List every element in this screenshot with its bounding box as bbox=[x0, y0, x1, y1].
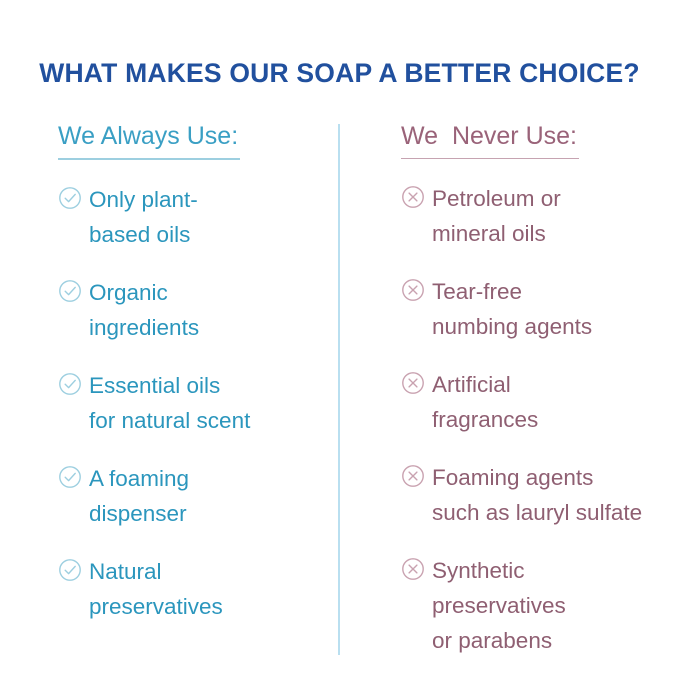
check-circle-icon bbox=[58, 558, 82, 582]
column-always-use: We Always Use: Only plant- based oils bbox=[0, 120, 338, 624]
list-item: Petroleum or mineral oils bbox=[401, 181, 671, 251]
list-item-label: Tear-free numbing agents bbox=[432, 274, 592, 344]
x-circle-icon bbox=[401, 371, 425, 395]
list-item: Artificial fragrances bbox=[401, 367, 671, 437]
list-item: Natural preservatives bbox=[58, 554, 326, 624]
list-item-label: Artificial fragrances bbox=[432, 367, 538, 437]
list-item: Tear-free numbing agents bbox=[401, 274, 671, 344]
check-circle-icon bbox=[58, 465, 82, 489]
list-item: Synthetic preservatives or parabens bbox=[401, 553, 671, 658]
x-circle-icon bbox=[401, 557, 425, 581]
list-item: A foaming dispenser bbox=[58, 461, 326, 531]
column-never-use: We Never Use: Petroleum or mineral oils bbox=[338, 120, 679, 658]
list-item-label: Organic ingredients bbox=[89, 275, 199, 345]
never-use-list: Petroleum or mineral oils Tear-free numb… bbox=[401, 181, 671, 658]
list-item-label: Essential oils for natural scent bbox=[89, 368, 250, 438]
list-item-label: Petroleum or mineral oils bbox=[432, 181, 561, 251]
x-circle-icon bbox=[401, 464, 425, 488]
list-item: Foaming agents such as lauryl sulfate bbox=[401, 460, 671, 530]
list-item-label: Foaming agents such as lauryl sulfate bbox=[432, 460, 642, 530]
check-circle-icon bbox=[58, 279, 82, 303]
comparison-columns: We Always Use: Only plant- based oils bbox=[0, 120, 679, 658]
check-circle-icon bbox=[58, 372, 82, 396]
list-item: Organic ingredients bbox=[58, 275, 326, 345]
x-circle-icon bbox=[401, 278, 425, 302]
page-title: WHAT MAKES OUR SOAP A BETTER CHOICE? bbox=[0, 56, 679, 90]
always-use-list: Only plant- based oils Organic ingredien… bbox=[58, 182, 326, 624]
check-circle-icon bbox=[58, 186, 82, 210]
comparison-poster: WHAT MAKES OUR SOAP A BETTER CHOICE? We … bbox=[0, 0, 679, 679]
list-item-label: A foaming dispenser bbox=[89, 461, 189, 531]
list-item: Only plant- based oils bbox=[58, 182, 326, 252]
x-circle-icon bbox=[401, 185, 425, 209]
list-item-label: Natural preservatives bbox=[89, 554, 223, 624]
list-item-label: Synthetic preservatives or parabens bbox=[432, 553, 566, 658]
column-heading-never-use: We Never Use: bbox=[401, 120, 579, 159]
list-item: Essential oils for natural scent bbox=[58, 368, 326, 438]
list-item-label: Only plant- based oils bbox=[89, 182, 198, 252]
column-heading-always-use: We Always Use: bbox=[58, 120, 240, 160]
